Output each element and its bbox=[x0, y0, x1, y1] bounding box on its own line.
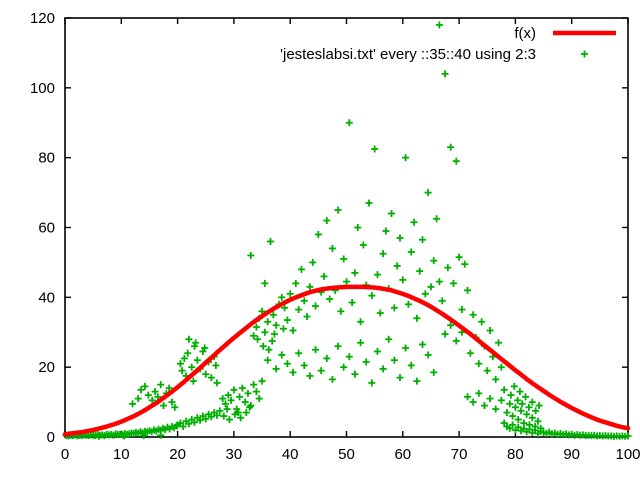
y-tick-label: 20 bbox=[38, 359, 55, 376]
x-tick-label: 50 bbox=[338, 446, 355, 463]
y-tick-label: 0 bbox=[47, 429, 55, 446]
x-tick-label: 60 bbox=[394, 446, 411, 463]
x-tick-label: 0 bbox=[61, 446, 69, 463]
chart-background bbox=[0, 0, 640, 480]
y-tick-label: 120 bbox=[30, 10, 55, 27]
y-tick-label: 60 bbox=[38, 220, 55, 237]
y-tick-label: 80 bbox=[38, 150, 55, 167]
x-tick-label: 20 bbox=[169, 446, 186, 463]
chart-canvas: 0102030405060708090100 020406080100120 f… bbox=[0, 0, 640, 480]
y-tick-label: 100 bbox=[30, 80, 55, 97]
legend-label: 'jesteslabsi.txt' every ::35::40 using 2… bbox=[280, 46, 536, 63]
x-tick-label: 70 bbox=[451, 446, 468, 463]
x-tick-label: 90 bbox=[563, 446, 580, 463]
x-tick-label: 40 bbox=[282, 446, 299, 463]
gnuplot-chart: 0102030405060708090100 020406080100120 f… bbox=[0, 0, 640, 480]
x-tick-label: 10 bbox=[113, 446, 130, 463]
legend-label: f(x) bbox=[514, 25, 536, 42]
x-tick-label: 80 bbox=[507, 446, 524, 463]
x-tick-label: 30 bbox=[226, 446, 243, 463]
y-tick-label: 40 bbox=[38, 289, 55, 306]
x-tick-label: 100 bbox=[615, 446, 640, 463]
